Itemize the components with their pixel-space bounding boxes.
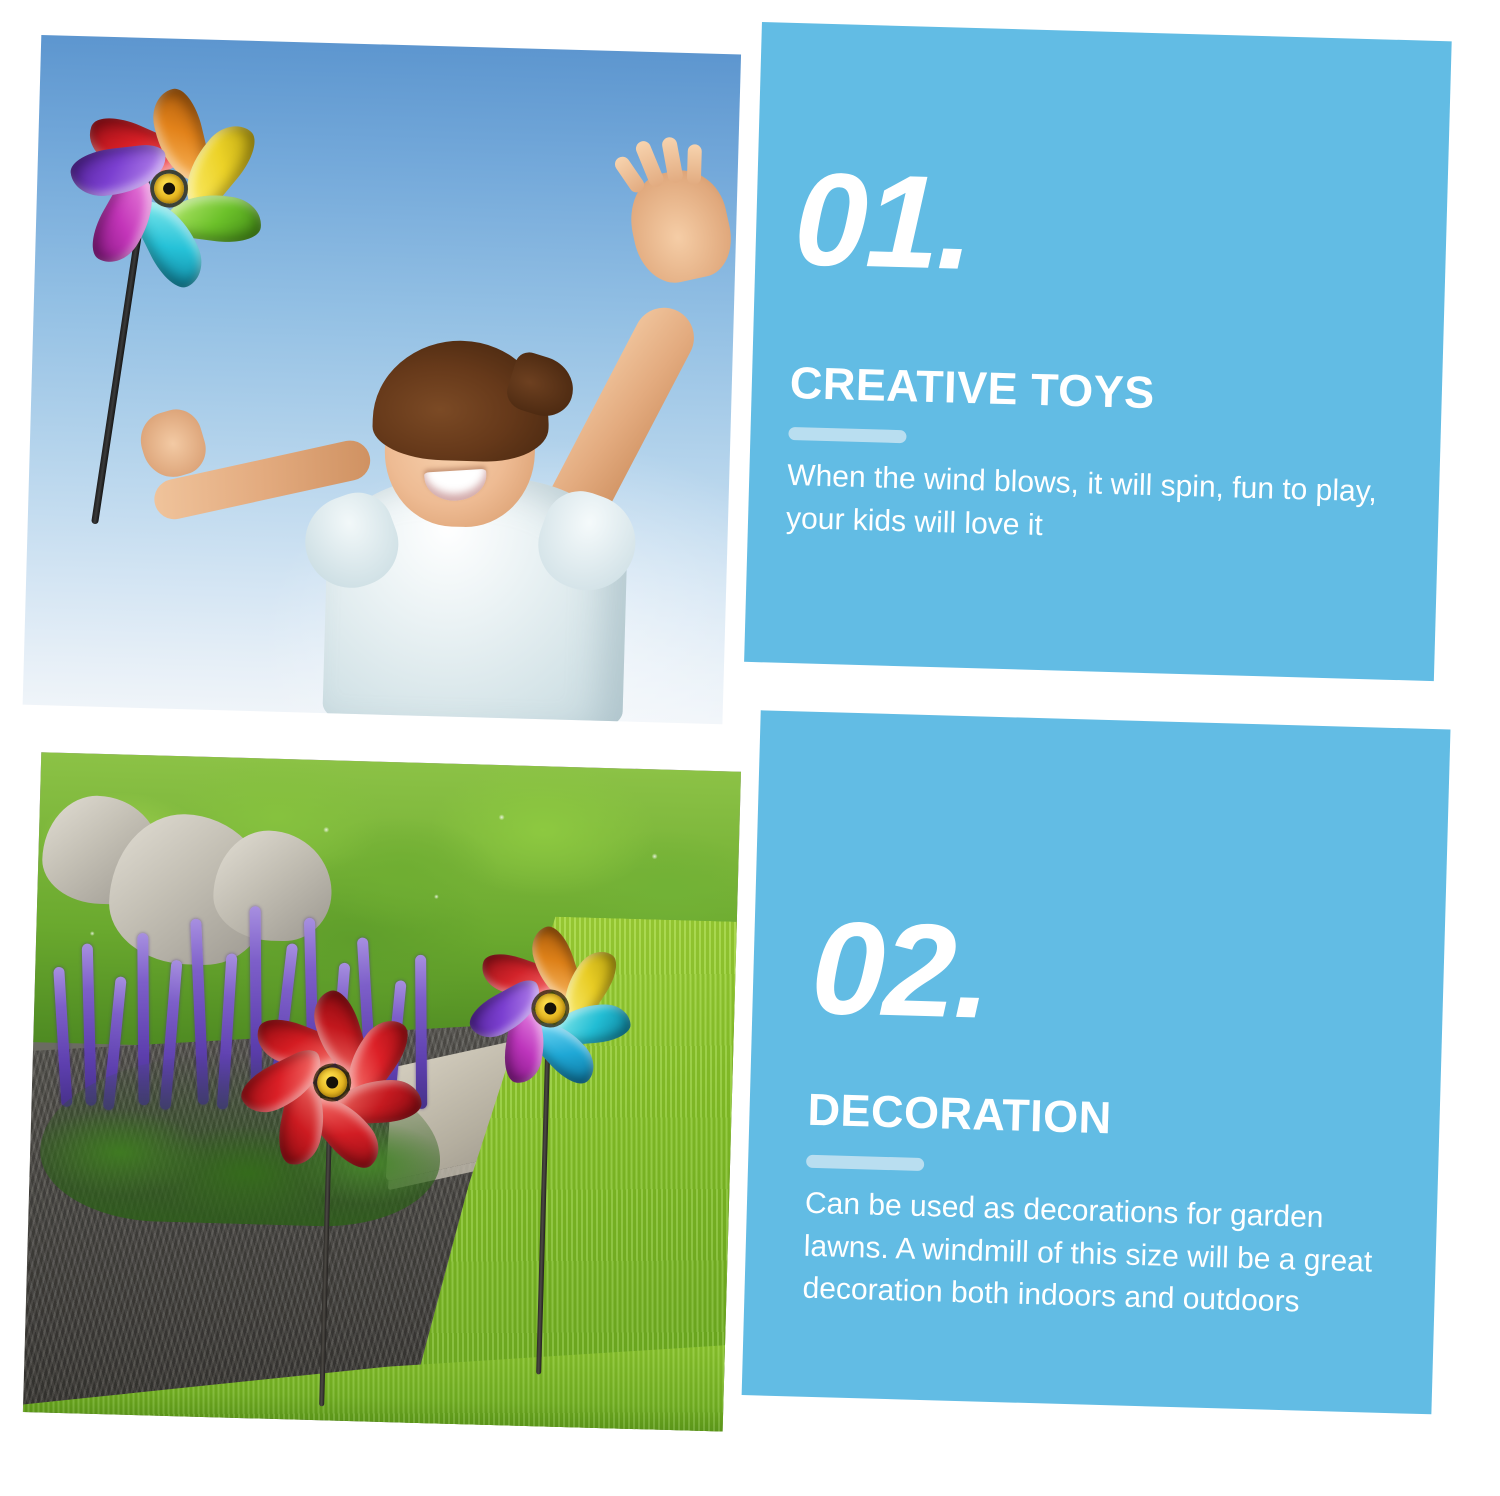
feature-number-02: 02.	[810, 902, 991, 1039]
boy-right-hand	[622, 162, 739, 290]
feature-sheet-composition: 01. CREATIVE TOYS When the wind blows, i…	[0, 0, 1500, 1496]
feature-body-02: Can be used as decorations for garden la…	[802, 1183, 1405, 1327]
feature-heading-01: CREATIVE TOYS	[789, 360, 1155, 415]
feature-image-decoration	[23, 752, 741, 1431]
feature-panel-01: 01. CREATIVE TOYS When the wind blows, i…	[744, 22, 1452, 681]
feature-number-01: 01.	[793, 153, 974, 290]
feature-rule-02	[806, 1155, 924, 1171]
feature-image-creative-toys	[23, 35, 741, 724]
boy-hair	[372, 338, 551, 463]
feature-body-01: When the wind blows, it will spin, fun t…	[786, 455, 1398, 557]
feature-rule-01	[788, 427, 906, 443]
feature-heading-02: DECORATION	[807, 1087, 1112, 1140]
feature-panel-02: 02. DECORATION Can be used as decoration…	[742, 710, 1451, 1414]
